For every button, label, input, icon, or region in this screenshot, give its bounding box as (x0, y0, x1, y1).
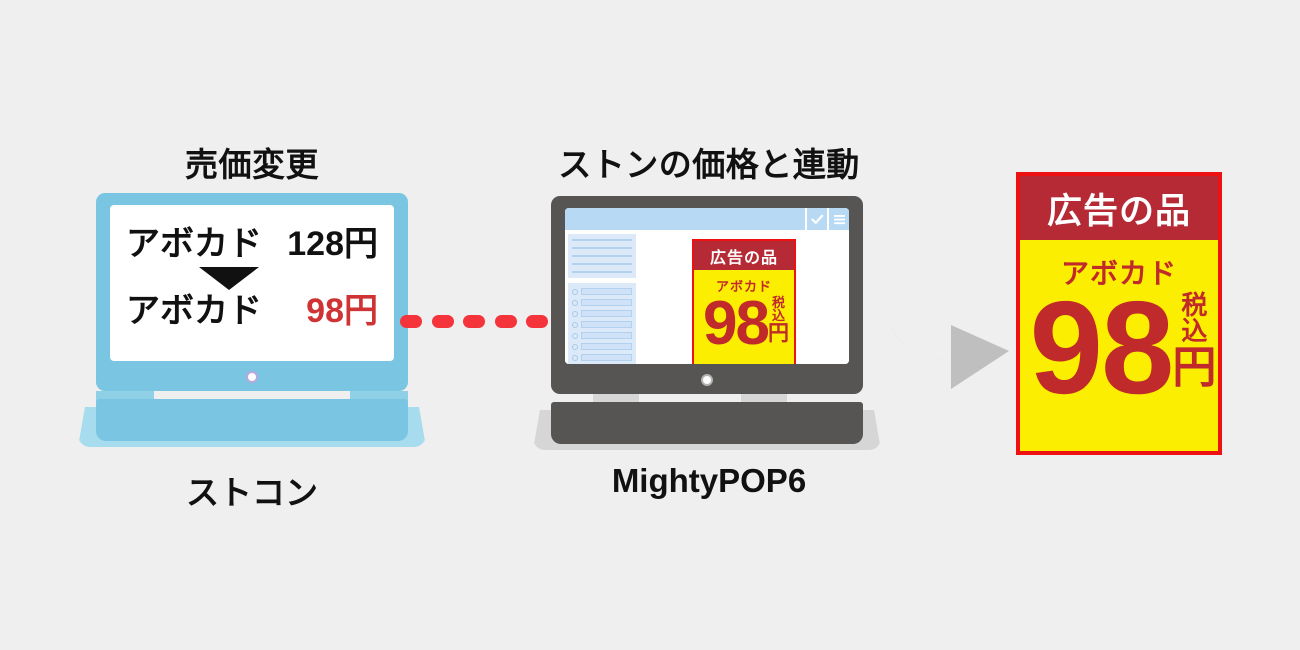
curved-arrow-right-icon (875, 285, 1015, 395)
sidebar-info-line (572, 239, 632, 241)
list-item-label (581, 354, 632, 361)
pop-sign-preview-price-unit: 税 込 円 (768, 296, 789, 350)
list-item[interactable] (572, 310, 632, 317)
price-row-after-name: アボカド (126, 294, 262, 328)
app-body: 広告の品 アボカド 98 税 込 円 (565, 230, 849, 364)
pop-sign-preview[interactable]: 広告の品 アボカド 98 税 込 円 (692, 239, 796, 364)
pop-sign-preview-body: アボカド 98 税 込 円 (694, 270, 794, 364)
list-item-label (581, 343, 632, 350)
list-item[interactable] (572, 343, 632, 350)
pop-sign-price-number: 98 (1030, 294, 1173, 402)
radio-icon (572, 333, 578, 339)
radio-icon (572, 344, 578, 350)
confirm-button[interactable] (805, 208, 827, 230)
mightypop-laptop-lid: 広告の品 アボカド 98 税 込 円 (551, 196, 863, 394)
price-row-before: アボカド 128円 (126, 227, 378, 261)
dash-segment (463, 315, 485, 328)
list-item-label (581, 321, 632, 328)
list-item[interactable] (572, 288, 632, 295)
sidebar-item-list[interactable] (568, 283, 636, 364)
pop-sign-preview-price: 98 税 込 円 (692, 296, 796, 350)
sidebar-info-line (572, 247, 632, 249)
stocon-base-top (96, 399, 408, 441)
tax-label-1: 税 (1181, 292, 1207, 318)
sidebar-info-line (572, 263, 632, 265)
stocon-laptop-base (78, 399, 426, 447)
price-row-before-value: 128円 (287, 227, 378, 261)
pop-sign-body: アボカド 98 税 込 円 (1020, 240, 1218, 451)
heading-price-linkage: ストンの価格と連動 (533, 138, 885, 186)
list-item[interactable] (572, 332, 632, 339)
heading-price-change: 売価変更 (78, 138, 426, 186)
mightypop-app-window: 広告の品 アボカド 98 税 込 円 (565, 208, 849, 364)
dash-segment (400, 315, 422, 328)
sidebar-info-line (572, 255, 632, 257)
app-toolbar (565, 208, 849, 230)
radio-icon (572, 355, 578, 361)
price-row-after-value: 98円 (306, 294, 378, 328)
list-item-label (581, 299, 632, 306)
list-item-label (581, 332, 632, 339)
price-row-before-name: アボカド (126, 227, 262, 261)
radio-icon (572, 300, 578, 306)
list-item-label (581, 288, 632, 295)
yen-label: 円 (1172, 346, 1216, 390)
list-item[interactable] (572, 354, 632, 361)
dash-segment (432, 315, 454, 328)
list-item[interactable] (572, 321, 632, 328)
mightypop-laptop: 広告の品 アボカド 98 税 込 円 (533, 196, 885, 456)
caption-stocon: ストコン (78, 466, 426, 514)
radio-icon (572, 311, 578, 317)
app-sidebar[interactable] (565, 230, 639, 364)
stocon-price-list: アボカド 128円 アボカド 98円 (110, 205, 394, 361)
caption-mightypop: MightyPOP6 (533, 462, 885, 500)
price-change-arrow (126, 267, 378, 290)
list-item[interactable] (572, 299, 632, 306)
tax-label-2: 込 (772, 309, 785, 322)
pop-sign-header: 広告の品 (1020, 176, 1218, 240)
radio-icon (572, 289, 578, 295)
triangle-down-icon (199, 267, 259, 290)
radio-icon (572, 322, 578, 328)
hamburger-menu-button[interactable] (827, 208, 849, 230)
pop-sign-printed: 広告の品 アボカド 98 税 込 円 (1016, 172, 1222, 455)
stocon-laptop-lid: アボカド 128円 アボカド 98円 (96, 193, 408, 391)
mightypop-base-top (551, 402, 863, 444)
stocon-screen: アボカド 128円 アボカド 98円 (110, 205, 394, 361)
pop-sign-price: 98 税 込 円 (1016, 292, 1222, 402)
yen-label: 円 (768, 323, 789, 344)
sidebar-info-panel (568, 234, 636, 278)
dash-segment (495, 315, 517, 328)
tax-label-2: 込 (1181, 318, 1207, 344)
mightypop-screen: 広告の品 アボカド 98 税 込 円 (565, 208, 849, 364)
stocon-laptop: アボカド 128円 アボカド 98円 (78, 193, 426, 453)
price-row-after: アボカド 98円 (126, 294, 378, 328)
sidebar-info-line (572, 271, 632, 273)
list-item-label (581, 310, 632, 317)
mightypop-laptop-base (533, 402, 881, 450)
mightypop-webcam-dot (701, 374, 713, 386)
pop-sign-preview-price-number: 98 (703, 299, 768, 350)
app-preview-canvas: 広告の品 アボカド 98 税 込 円 (639, 230, 849, 364)
pop-sign-price-unit: 税 込 円 (1172, 292, 1216, 402)
sync-dashed-connector (400, 313, 548, 329)
stocon-webcam-dot (246, 371, 258, 383)
pop-sign-preview-header: 広告の品 (694, 241, 794, 270)
diagram-canvas: 売価変更 アボカド 128円 アボカド 98円 (0, 0, 1300, 650)
